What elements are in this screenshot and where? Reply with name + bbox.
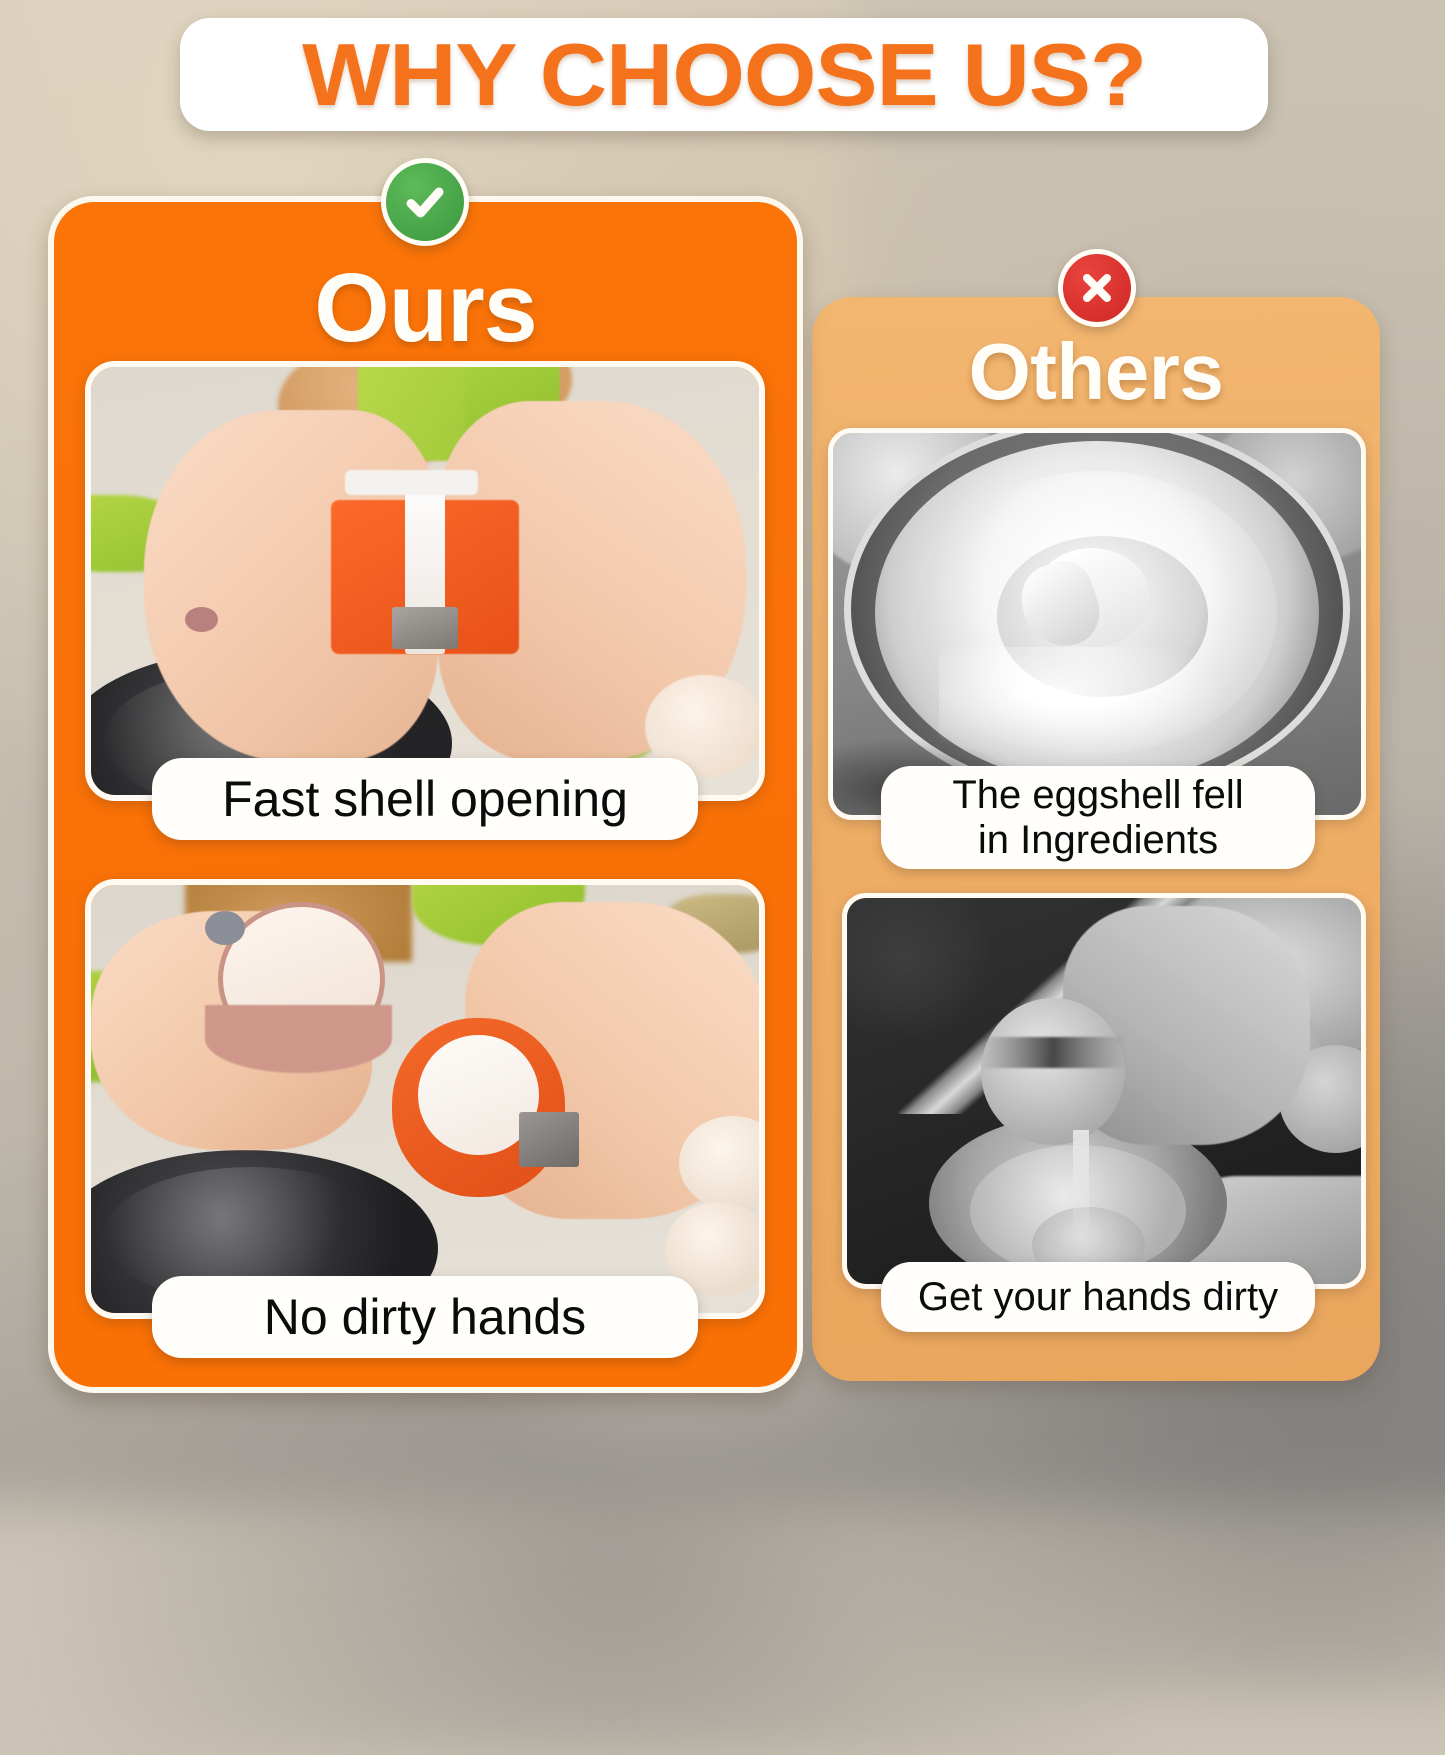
cross-circle-icon [1058,249,1136,327]
others-image-get-hands-dirty [842,893,1366,1289]
ours-image-no-dirty-hands [85,879,765,1319]
ours-heading: Ours [48,252,803,364]
others-caption-2: Get your hands dirty [881,1262,1315,1332]
check-circle-icon [381,158,469,246]
title-banner: WHY CHOOSE US? [180,18,1268,131]
ours-image-fast-shell-opening [85,361,765,801]
ours-caption-2: No dirty hands [152,1276,698,1358]
others-heading: Others [812,326,1380,418]
others-caption-1: The eggshell fell in Ingredients [881,766,1315,869]
others-caption-1-line2: in Ingredients [978,818,1218,862]
others-caption-1-line1: The eggshell fell [952,773,1243,817]
page-title: WHY CHOOSE US? [302,24,1146,126]
ours-caption-1: Fast shell opening [152,758,698,840]
others-image-eggshell-in-ingredients [828,428,1366,820]
